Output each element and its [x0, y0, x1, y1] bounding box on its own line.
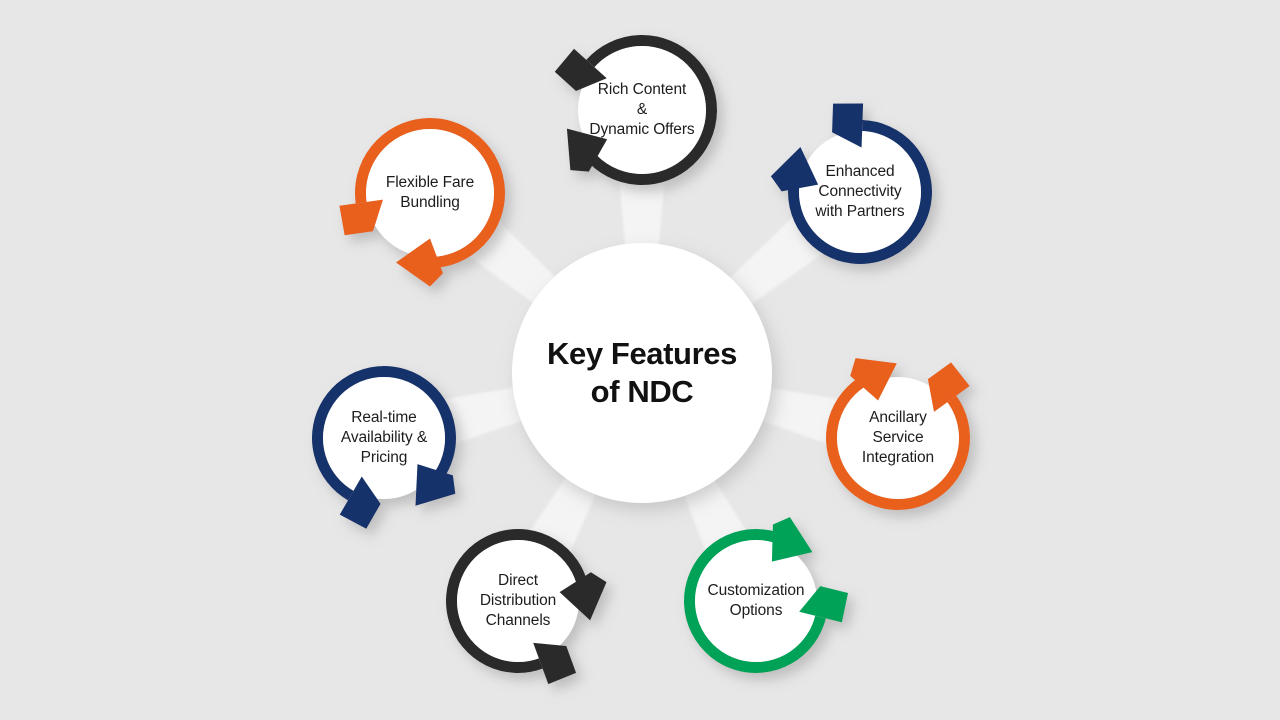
diagram-canvas: Key Features of NDC Rich Content & Dynam…: [0, 0, 1280, 720]
radial-diagram-svg: [0, 0, 1280, 720]
node-rich-content-dynamic-offers[interactable]: [555, 41, 712, 180]
node-face-direct-distribution-channels: [457, 540, 579, 662]
hub-group: [512, 243, 772, 503]
node-face-flexible-fare-bundling: [366, 129, 494, 257]
hub-circle[interactable]: [512, 243, 772, 503]
node-face-enhanced-connectivity-with-partners: [799, 131, 921, 253]
node-face-customization-options: [695, 540, 817, 662]
